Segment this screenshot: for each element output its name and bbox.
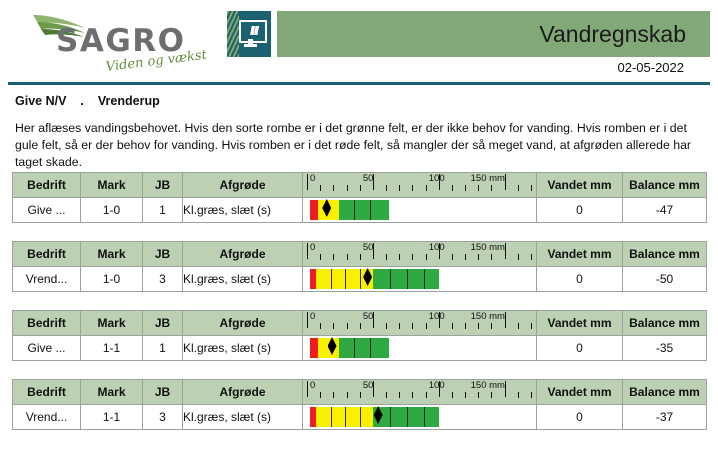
cell-balance-mm: -47: [623, 198, 707, 223]
column-header-mark: Mark: [81, 173, 143, 198]
ruler-tick-major: [307, 243, 308, 259]
vandregnskab-page: { "header": { "logo_word": "SAGRO", "log…: [0, 0, 718, 456]
column-header-vandet-mm: Vandet mm: [537, 173, 623, 198]
irrigation-table: BedriftMarkJBAfgrøde050100150 mmVandet m…: [12, 379, 707, 430]
location-heading: Give N/V.Vrenderup: [15, 94, 705, 108]
ruler-label: 100: [429, 380, 445, 391]
cell-jb: 1: [143, 198, 183, 223]
column-header-bedrift: Bedrift: [13, 380, 81, 405]
cell-vandet-mm: 0: [537, 198, 623, 223]
ruler-tick-minor: [452, 185, 453, 191]
ruler-label: 150 mm: [471, 380, 505, 391]
irrigation-table: BedriftMarkJBAfgrøde050100150 mmVandet m…: [12, 172, 707, 223]
ruler-label: 150 mm: [471, 242, 505, 253]
gauge-divider: [345, 269, 346, 289]
table-header-row: BedriftMarkJBAfgrøde050100150 mmVandet m…: [13, 311, 707, 336]
cell-balance-mm: -37: [623, 405, 707, 430]
ruler-label: 0: [310, 311, 315, 322]
ruler-tick-minor: [412, 323, 413, 329]
ruler-tick-minor: [531, 185, 532, 191]
gauge-divider: [354, 338, 355, 358]
ruler-tick-minor: [465, 185, 466, 191]
column-header-jb: JB: [143, 242, 183, 267]
gauge-zone-green: [373, 407, 439, 427]
ruler-tick-minor: [491, 392, 492, 398]
ruler-label: 0: [310, 380, 315, 391]
table-header-row: BedriftMarkJBAfgrøde050100150 mmVandet m…: [13, 380, 707, 405]
ruler-tick-minor: [399, 185, 400, 191]
table-header-row: BedriftMarkJBAfgrøde050100150 mmVandet m…: [13, 173, 707, 198]
ruler-tick-minor: [386, 185, 387, 191]
irrigation-tables: BedriftMarkJBAfgrøde050100150 mmVandet m…: [12, 172, 706, 448]
column-header-gauge-scale: 050100150 mm: [303, 173, 537, 198]
table-header-row: BedriftMarkJBAfgrøde050100150 mmVandet m…: [13, 242, 707, 267]
ruler-label: 100: [429, 242, 445, 253]
cell-afgrode: Kl.græs, slæt (s): [183, 198, 303, 223]
gauge-divider: [354, 200, 355, 220]
ruler-tick-minor: [426, 185, 427, 191]
ruler-label: 100: [429, 311, 445, 322]
ruler-tick-minor: [452, 392, 453, 398]
column-header-mark: Mark: [81, 311, 143, 336]
column-header-jb: JB: [143, 380, 183, 405]
ruler-tick-minor: [399, 392, 400, 398]
ruler-label: 0: [310, 242, 315, 253]
ruler-tick-minor: [518, 323, 519, 329]
table-row: Give ...1-01Kl.græs, slæt (s)0-47: [13, 198, 707, 223]
ruler: 050100150 mm: [303, 242, 536, 266]
page-header: SAGRO Viden og vækst Vandregnskab 02-05-…: [0, 0, 718, 86]
cell-bedrift: Give ...: [13, 198, 81, 223]
ruler: 050100150 mm: [303, 173, 536, 197]
ruler-label: 150 mm: [471, 311, 505, 322]
column-header-bedrift: Bedrift: [13, 242, 81, 267]
ruler-tick-major: [307, 381, 308, 397]
cell-bedrift: Give ...: [13, 336, 81, 361]
header-divider: [8, 82, 710, 85]
column-header-bedrift: Bedrift: [13, 311, 81, 336]
ruler-tick-minor: [347, 185, 348, 191]
ruler-tick-minor: [333, 392, 334, 398]
ruler-tick-minor: [452, 323, 453, 329]
column-header-bedrift: Bedrift: [13, 173, 81, 198]
cell-jb: 3: [143, 405, 183, 430]
column-header-vandet-mm: Vandet mm: [537, 311, 623, 336]
gauge-divider: [360, 269, 361, 289]
ruler-tick-minor: [320, 254, 321, 260]
ruler-tick-minor: [478, 254, 479, 260]
cell-bedrift: Vrend...: [13, 267, 81, 292]
column-header-mark: Mark: [81, 242, 143, 267]
column-header-vandet-mm: Vandet mm: [537, 380, 623, 405]
irrigation-table: BedriftMarkJBAfgrøde050100150 mmVandet m…: [12, 241, 707, 292]
gauge-divider: [331, 269, 332, 289]
location-right: Vrenderup: [98, 94, 160, 108]
ruler-tick-minor: [531, 323, 532, 329]
ruler-tick-minor: [465, 254, 466, 260]
ruler-label: 50: [363, 173, 374, 184]
cell-bedrift: Vrend...: [13, 405, 81, 430]
cell-vandet-mm: 0: [537, 267, 623, 292]
gauge-zone-red: [310, 200, 318, 220]
gauge-divider: [407, 269, 408, 289]
column-header-vandet-mm: Vandet mm: [537, 242, 623, 267]
ruler-tick-minor: [360, 185, 361, 191]
ruler-tick-minor: [412, 185, 413, 191]
cell-vandet-mm: 0: [537, 405, 623, 430]
ruler-tick-minor: [465, 392, 466, 398]
gauge-divider: [424, 407, 425, 427]
cell-jb: 1: [143, 336, 183, 361]
gauge-cell: [303, 267, 537, 292]
irrigation-table: BedriftMarkJBAfgrøde050100150 mmVandet m…: [12, 310, 707, 361]
ruler-label: 150 mm: [471, 173, 505, 184]
ruler-tick-minor: [412, 254, 413, 260]
ruler-tick-minor: [399, 323, 400, 329]
ruler-tick-minor: [531, 254, 532, 260]
gauge-divider: [345, 407, 346, 427]
ruler-tick-minor: [386, 392, 387, 398]
ruler-tick-minor: [478, 392, 479, 398]
ruler-tick-minor: [518, 392, 519, 398]
table-row: Vrend...1-03Kl.græs, slæt (s)0-50: [13, 267, 707, 292]
cell-balance-mm: -50: [623, 267, 707, 292]
column-header-balance-mm: Balance mm: [623, 173, 707, 198]
ruler-tick-minor: [426, 254, 427, 260]
ruler-label: 50: [363, 380, 374, 391]
gauge-divider: [390, 407, 391, 427]
report-date: 02-05-2022: [618, 60, 685, 75]
gauge-cell: [303, 198, 537, 223]
column-header-mark: Mark: [81, 380, 143, 405]
cell-mark: 1-1: [81, 336, 143, 361]
monitor-frame: [239, 20, 267, 43]
ruler-tick-minor: [531, 392, 532, 398]
ruler-tick-minor: [478, 323, 479, 329]
cell-afgrode: Kl.græs, slæt (s): [183, 336, 303, 361]
column-header-balance-mm: Balance mm: [623, 380, 707, 405]
ruler-tick-minor: [333, 323, 334, 329]
column-header-afgrode: Afgrøde: [183, 173, 303, 198]
cell-vandet-mm: 0: [537, 336, 623, 361]
ruler-tick-minor: [386, 323, 387, 329]
cell-balance-mm: -35: [623, 336, 707, 361]
ruler-tick-minor: [412, 392, 413, 398]
table-row: Give ...1-11Kl.græs, slæt (s)0-35: [13, 336, 707, 361]
ruler-tick-minor: [491, 185, 492, 191]
gauge-bar: [310, 338, 389, 358]
ruler: 050100150 mm: [303, 380, 536, 404]
column-header-gauge-scale: 050100150 mm: [303, 311, 537, 336]
column-header-gauge-scale: 050100150 mm: [303, 380, 537, 405]
column-header-gauge-scale: 050100150 mm: [303, 242, 537, 267]
ruler-tick-minor: [452, 254, 453, 260]
gauge-divider: [331, 407, 332, 427]
gauge-zone-red: [310, 407, 317, 427]
gauge-divider: [360, 407, 361, 427]
gauge-divider: [407, 407, 408, 427]
ruler-tick-minor: [320, 392, 321, 398]
ruler-tick-minor: [491, 323, 492, 329]
monitor-screen-icon: [227, 11, 271, 57]
gauge-zone-green: [373, 269, 439, 289]
ruler-label: 100: [429, 173, 445, 184]
gauge-bar: [310, 407, 439, 427]
cell-mark: 1-0: [81, 198, 143, 223]
cell-jb: 3: [143, 267, 183, 292]
monitor-base: [244, 44, 257, 47]
gauge-divider: [424, 269, 425, 289]
gauge-cell: [303, 405, 537, 430]
page-title: Vandregnskab: [539, 21, 686, 48]
ruler: 050100150 mm: [303, 311, 536, 335]
column-header-balance-mm: Balance mm: [623, 242, 707, 267]
cell-afgrode: Kl.græs, slæt (s): [183, 267, 303, 292]
location-left: Give N/V: [15, 94, 66, 108]
ruler-tick-minor: [426, 392, 427, 398]
ruler-tick-major: [307, 174, 308, 190]
column-header-jb: JB: [143, 173, 183, 198]
ruler-tick-minor: [347, 323, 348, 329]
gauge-divider: [390, 269, 391, 289]
ruler-tick-minor: [465, 323, 466, 329]
ruler-tick-minor: [491, 254, 492, 260]
ruler-label: 50: [363, 242, 374, 253]
gauge-bar: [310, 200, 389, 220]
ruler-tick-minor: [360, 323, 361, 329]
ruler-tick-minor: [518, 254, 519, 260]
ruler-tick-major: [307, 312, 308, 328]
column-header-afgrode: Afgrøde: [183, 380, 303, 405]
cell-mark: 1-1: [81, 405, 143, 430]
column-header-afgrode: Afgrøde: [183, 242, 303, 267]
sagro-logo: SAGRO Viden og vækst: [14, 8, 214, 80]
ruler-label: 0: [310, 173, 315, 184]
gauge-divider: [370, 338, 371, 358]
gauge-divider: [370, 200, 371, 220]
gauge-cell: [303, 336, 537, 361]
stripe-pattern: [227, 11, 239, 57]
ruler-tick-minor: [347, 392, 348, 398]
table-row: Vrend...1-13Kl.græs, slæt (s)0-37: [13, 405, 707, 430]
wave-glyph: [242, 26, 262, 35]
location-separator: .: [66, 94, 97, 108]
column-header-jb: JB: [143, 311, 183, 336]
gauge-zone-green: [339, 200, 389, 220]
ruler-label: 50: [363, 311, 374, 322]
cell-afgrode: Kl.græs, slæt (s): [183, 405, 303, 430]
ruler-tick-minor: [399, 254, 400, 260]
intro-paragraph: Her aflæses vandingsbehovet. Hvis den so…: [15, 120, 705, 171]
ruler-tick-minor: [333, 185, 334, 191]
ruler-tick-minor: [333, 254, 334, 260]
gauge-zone-red: [310, 338, 318, 358]
column-header-afgrode: Afgrøde: [183, 311, 303, 336]
title-bar: Vandregnskab: [277, 11, 710, 57]
cell-mark: 1-0: [81, 267, 143, 292]
gauge-zone-green: [339, 338, 389, 358]
intro-block: Give N/V.Vrenderup Her aflæses vandingsb…: [15, 94, 705, 171]
ruler-tick-minor: [320, 323, 321, 329]
gauge-bar: [310, 269, 439, 289]
ruler-tick-minor: [478, 185, 479, 191]
gauge-zone-red: [310, 269, 317, 289]
ruler-tick-minor: [518, 185, 519, 191]
ruler-tick-minor: [347, 254, 348, 260]
ruler-tick-minor: [360, 392, 361, 398]
ruler-tick-minor: [426, 323, 427, 329]
ruler-tick-minor: [320, 185, 321, 191]
ruler-tick-minor: [386, 254, 387, 260]
column-header-balance-mm: Balance mm: [623, 311, 707, 336]
ruler-tick-minor: [360, 254, 361, 260]
